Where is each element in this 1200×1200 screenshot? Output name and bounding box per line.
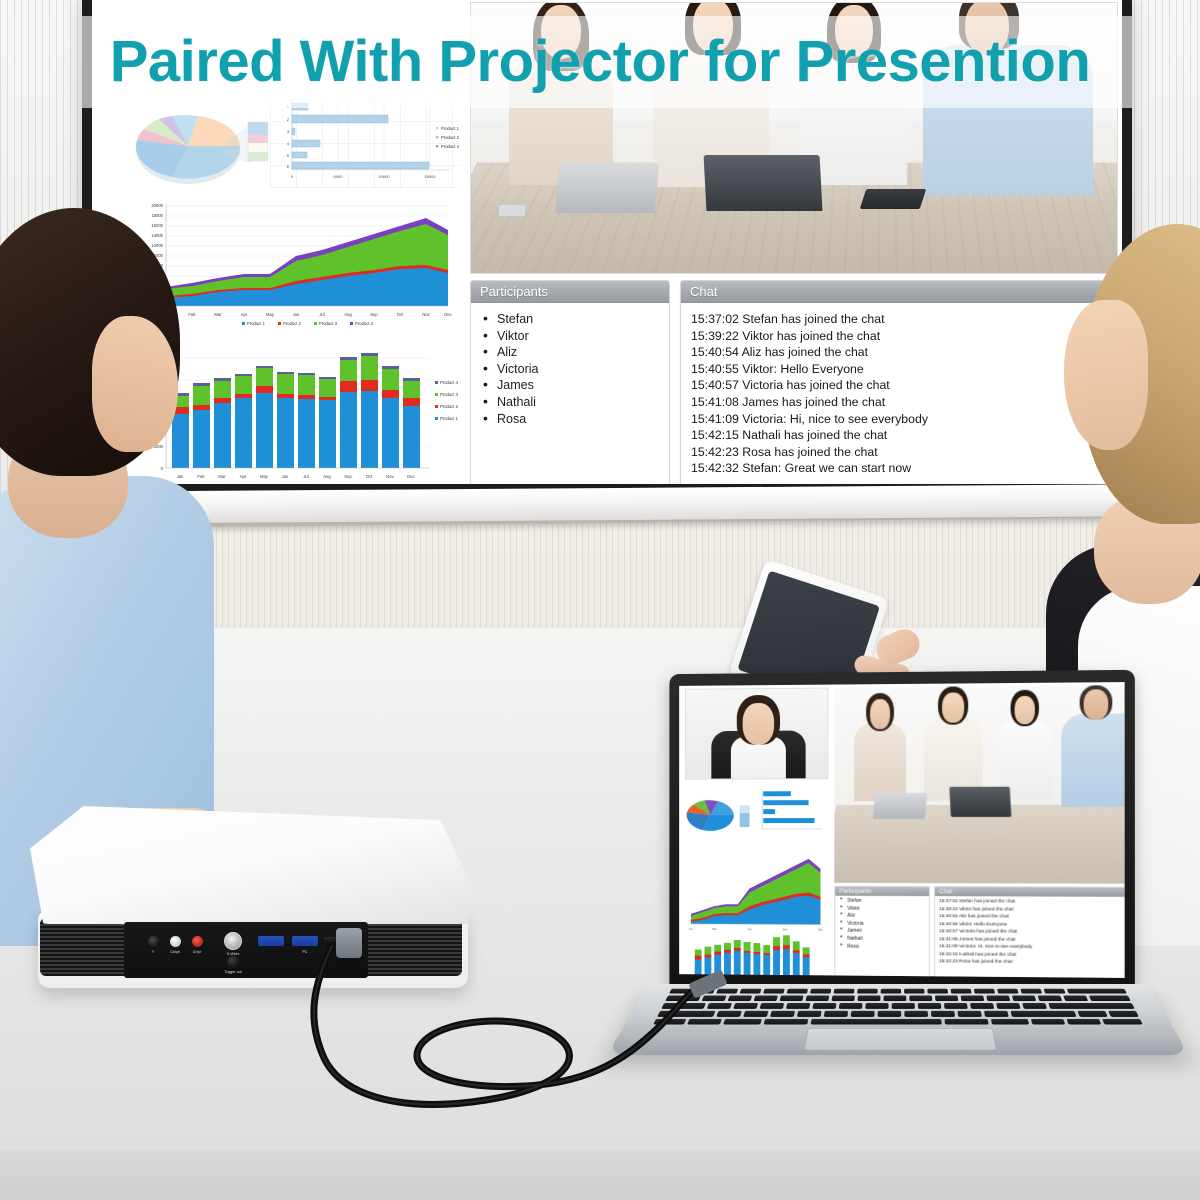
laptop-trackpad[interactable] (804, 1028, 998, 1050)
list-item: Rosa (838, 943, 926, 951)
trigger-out-label: Trigger out (213, 970, 253, 974)
chat-message: 15:37:02 Stefan has joined the chat (691, 311, 1107, 328)
svg-text:Product 2: Product 2 (441, 135, 460, 140)
svg-text:5000: 5000 (334, 174, 344, 179)
svg-text:2: 2 (287, 117, 290, 122)
laptop-video-pane (834, 685, 1124, 884)
video-tablet (860, 189, 926, 209)
svg-text:Dec: Dec (444, 312, 451, 317)
list-item[interactable]: Viktor (481, 328, 659, 345)
svg-text:Nov: Nov (386, 474, 394, 479)
page-title: Paired With Projector for Presention (0, 28, 1200, 95)
svg-text:Sep: Sep (344, 474, 352, 479)
svg-text:Jun: Jun (293, 312, 300, 317)
participants-header: Participants (471, 281, 669, 303)
svg-text:Mar: Mar (218, 474, 226, 479)
svg-text:4: 4 (287, 141, 290, 146)
pie-chart (130, 96, 270, 188)
chat-message: 15:41:09 Victoria: Hi, nice to see every… (691, 411, 1107, 428)
trigger-out-port[interactable] (227, 956, 239, 968)
laptop-chat-card: Chat 15:37:02 Stefan has joined the chat… (934, 886, 1125, 978)
room-scene: 0 5000 10000 15000 12 34 56 Product (0, 0, 1200, 1200)
svg-text:Oct: Oct (366, 474, 373, 479)
list-item[interactable]: Rosa (481, 411, 659, 428)
laptop-charts-column: JanMar JunSep Dec (682, 688, 831, 977)
participants-card: Participants Stefan Viktor Aliz Victoria… (470, 280, 670, 484)
svg-text:Nov: Nov (422, 312, 430, 317)
svg-text:Sep: Sep (370, 312, 378, 317)
laptop-screen[interactable]: JanMar JunSep Dec (679, 682, 1124, 978)
svg-text:10000: 10000 (378, 174, 390, 179)
svg-text:May: May (260, 474, 269, 479)
list-item[interactable]: James (481, 377, 659, 394)
svg-text:Product 3: Product 3 (319, 321, 338, 326)
svg-text:Mar: Mar (214, 312, 222, 317)
svg-text:Product 1: Product 1 (440, 416, 459, 421)
cr-component-port[interactable] (192, 936, 203, 947)
svg-text:Product 2: Product 2 (440, 404, 459, 409)
svg-text:Jun: Jun (282, 474, 289, 479)
chat-message: 15:40:57 Victoria has joined the chat (691, 377, 1107, 394)
desk-front-edge (0, 1150, 1200, 1200)
svg-text:Product 1: Product 1 (247, 321, 266, 326)
chat-message: 15:42:15 Nathali has joined the chat (691, 427, 1107, 444)
chat-message: 15:42:23 Rosa has joined the chat (935, 958, 1125, 967)
participants-list: Stefan Viktor Aliz Victoria James Nathal… (481, 311, 659, 427)
svg-text:Apr: Apr (241, 312, 248, 317)
svg-text:Oct: Oct (397, 312, 404, 317)
svg-text:Product 2: Product 2 (283, 321, 302, 326)
list-item[interactable]: Aliz (481, 344, 659, 361)
s-video-port[interactable] (224, 932, 242, 950)
chat-message: 15:42:23 Rosa has joined the chat (691, 444, 1107, 461)
viewer-left-face (92, 316, 178, 452)
svg-text:Dec: Dec (407, 474, 414, 479)
horizontal-bar-chart: 0 5000 10000 15000 12 34 56 Product (270, 96, 460, 188)
svg-text:6: 6 (287, 164, 290, 169)
list-item[interactable]: Victoria (481, 361, 659, 378)
svg-text:May: May (266, 312, 275, 317)
svg-text:Aug: Aug (344, 312, 352, 317)
svg-text:Product 4: Product 4 (355, 321, 374, 326)
svg-text:15000: 15000 (424, 174, 436, 179)
pie-callout-bar (248, 122, 268, 161)
laptop-self-view (685, 688, 828, 780)
svg-text:Product 1: Product 1 (441, 126, 460, 131)
panels-row: Participants Stefan Viktor Aliz Victoria… (470, 280, 1118, 484)
video-laptop-silver (555, 163, 659, 213)
chat-message: 15:40:55 Viktor: Hello Everyone (691, 361, 1107, 378)
laptop-panels-row: Participants Stefan Viktor Aliz Victoria… (834, 886, 1124, 978)
viewer-right-face (1064, 300, 1148, 450)
svg-text:Product 3: Product 3 (441, 144, 460, 149)
list-item[interactable]: Nathali (481, 394, 659, 411)
svg-text:Product 4: Product 4 (440, 380, 459, 385)
svg-text:5: 5 (287, 153, 290, 158)
chat-message: 15:39:22 Viktor has joined the chat (691, 328, 1107, 345)
svg-text:3: 3 (287, 129, 290, 134)
chat-message: 15:41:08 James has joined the chat (691, 394, 1107, 411)
chat-message: 15:40:54 Aliz has joined the chat (691, 344, 1107, 361)
svg-text:Product 3: Product 3 (440, 392, 459, 397)
list-item[interactable]: Stefan (481, 311, 659, 328)
cb-component-port[interactable] (170, 936, 181, 947)
y-component-port[interactable] (148, 936, 159, 947)
svg-text:0: 0 (291, 174, 294, 179)
svg-text:Aug: Aug (323, 474, 331, 479)
hdmi-cable (270, 940, 770, 1120)
video-laptop-dark (704, 155, 823, 211)
svg-text:Jul: Jul (319, 312, 324, 317)
video-phone (499, 205, 525, 216)
projector-top-shell (30, 806, 476, 924)
laptop-participants-card: Participants Stefan Viktor Aliz Victoria… (834, 886, 930, 978)
cr-port-label: Cr/pr (177, 950, 217, 954)
svg-text:Apr: Apr (240, 474, 247, 479)
svg-text:Jul: Jul (303, 474, 308, 479)
laptop-participants-header: Participants (835, 887, 929, 896)
chat-message: 15:42:32 Stefan: Great we can start now (691, 460, 1107, 477)
